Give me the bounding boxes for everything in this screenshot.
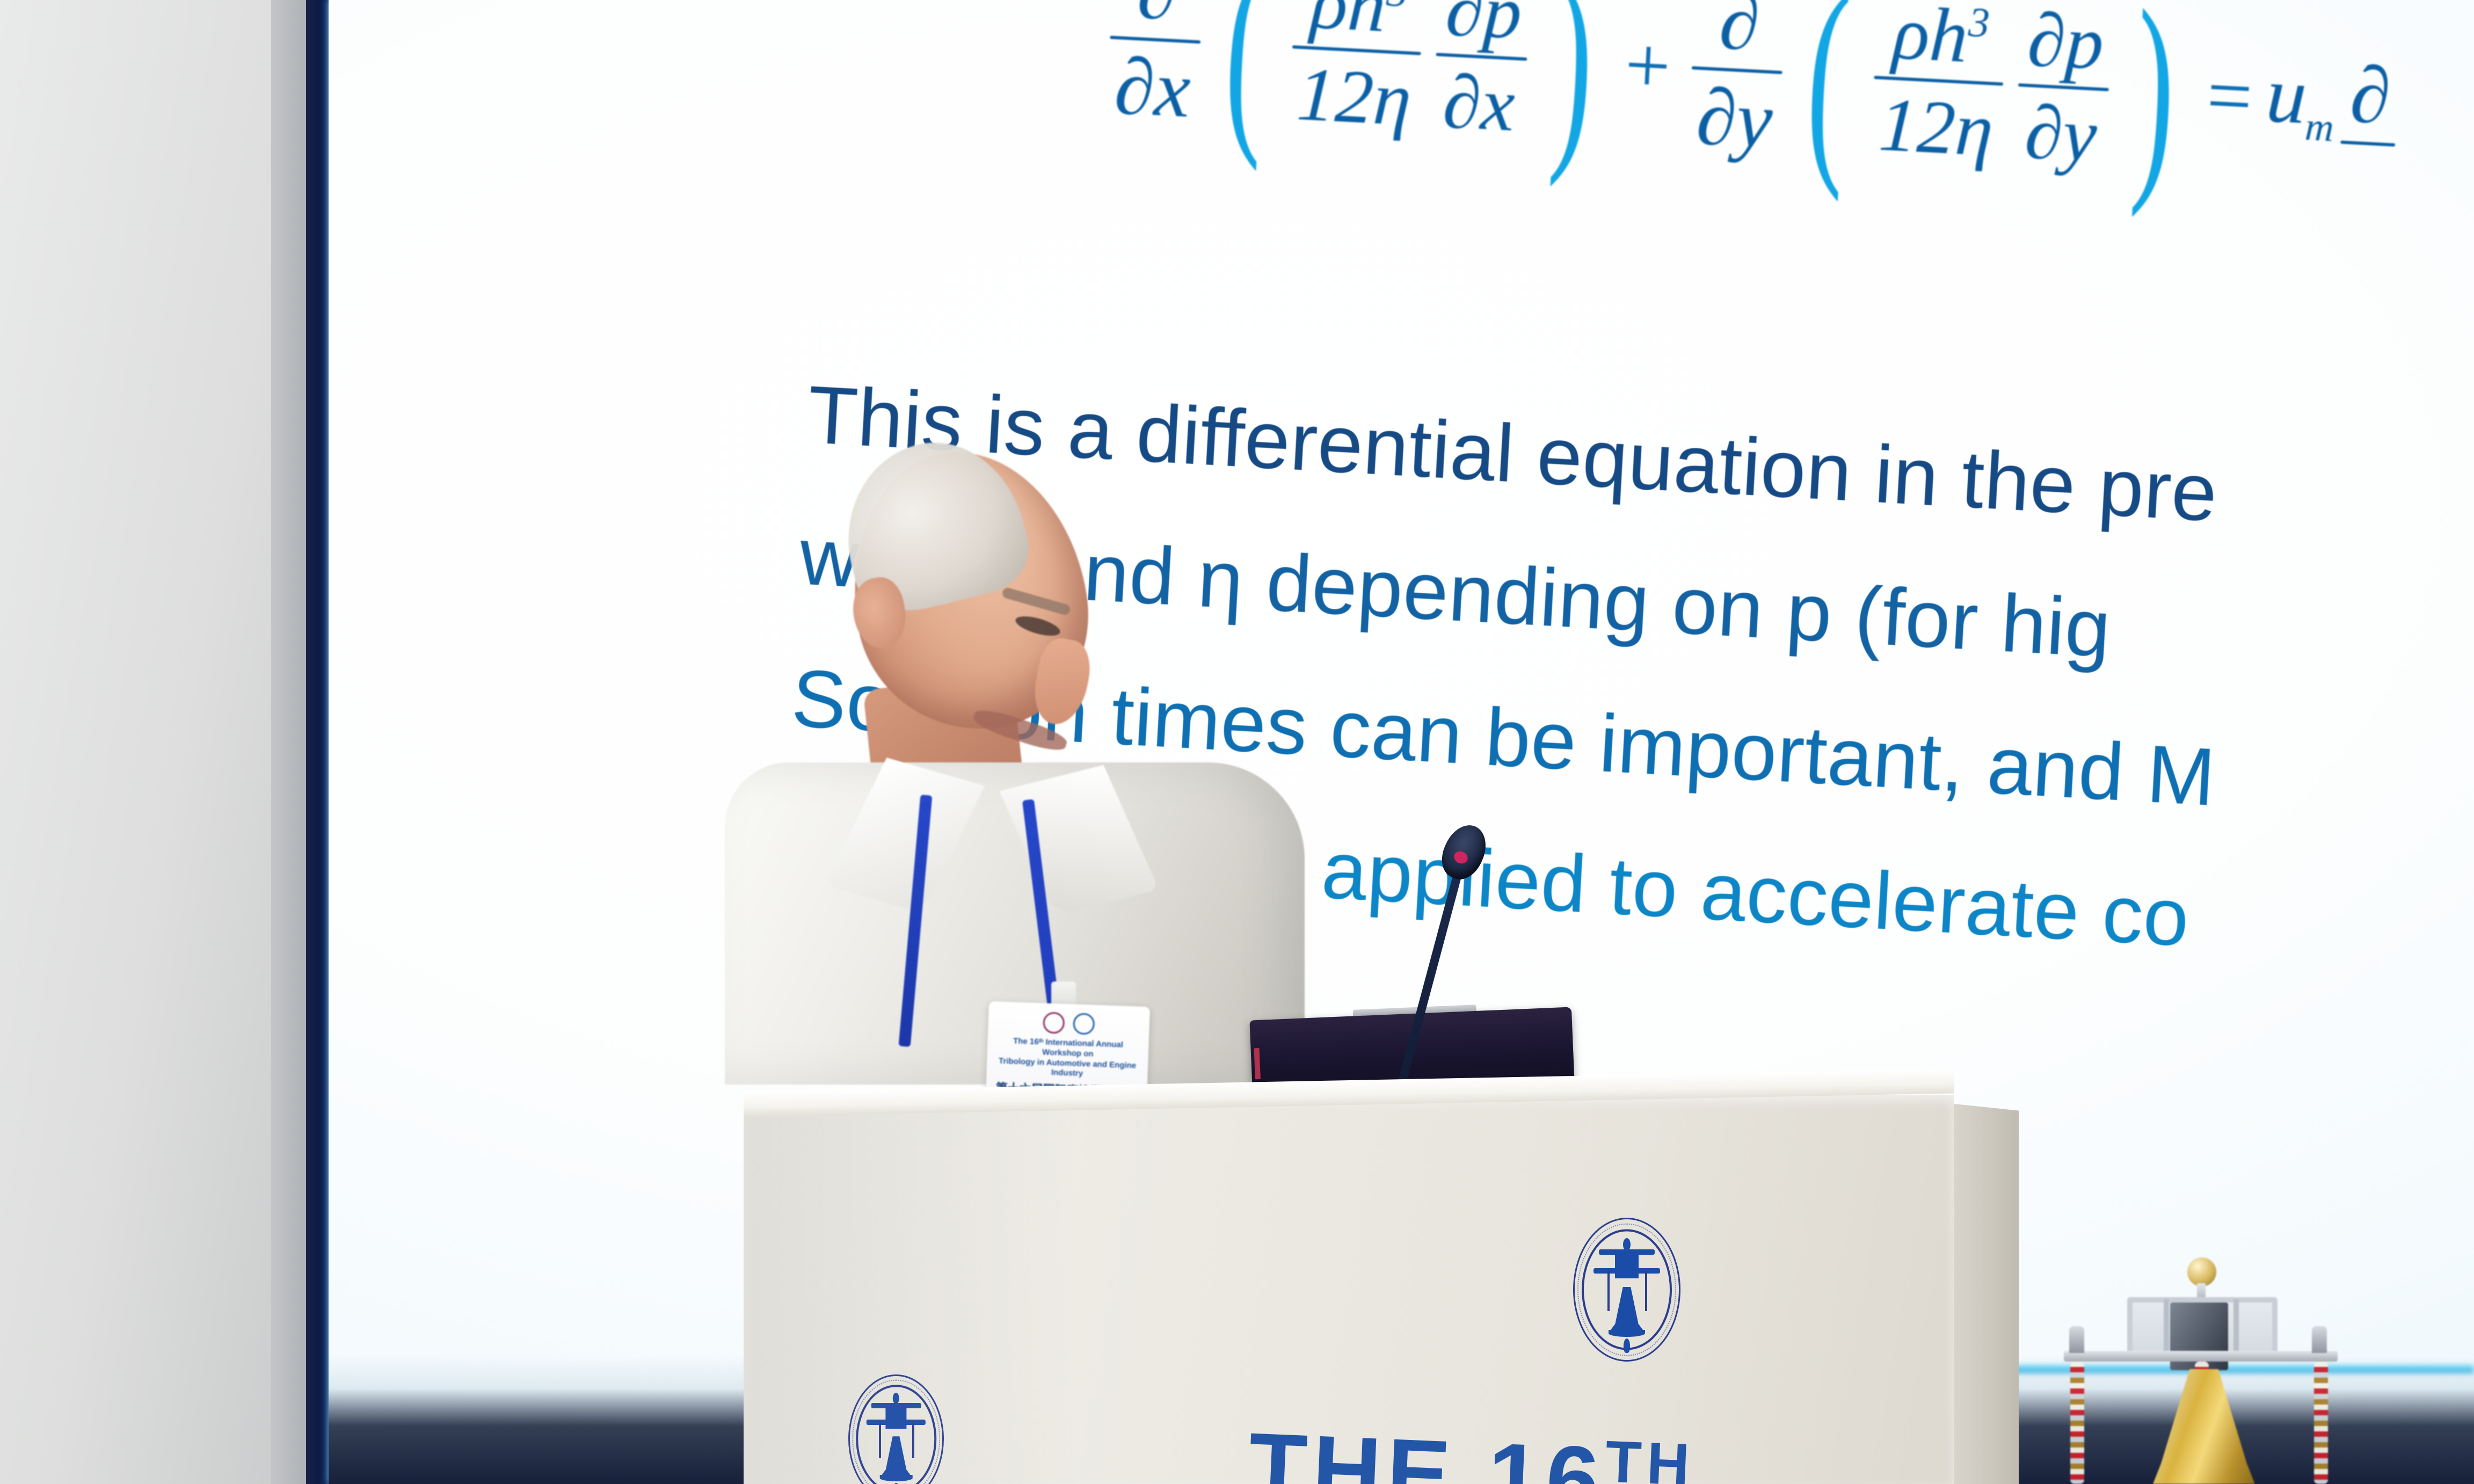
bell-cross-plate xyxy=(2064,1351,2338,1362)
paren-open-1: ( xyxy=(1222,0,1271,128)
rho-h3-over-12eta-1: ρh3 12η xyxy=(1288,0,1426,138)
partial-p-2: ∂p xyxy=(2019,1,2113,82)
wall-edge xyxy=(271,0,309,1484)
paren-close-1: ) xyxy=(1548,0,1597,146)
partial-symbol-2: ∂ xyxy=(1710,0,1769,63)
bell-cage-bar-left xyxy=(2164,1299,2169,1358)
partial-symbol-1: ∂ xyxy=(1128,0,1187,33)
bell-post-left xyxy=(2069,1326,2084,1353)
partial-d-dy-term2: ∂ ∂y xyxy=(1687,0,1787,161)
bell-cage-bar-right xyxy=(2233,1299,2239,1358)
bell-chain-left xyxy=(2070,1362,2084,1484)
dp-dy-term: ∂p ∂y xyxy=(2014,1,2113,173)
bell-post-right xyxy=(2312,1326,2327,1353)
u-mean-symbol: um xyxy=(2264,48,2338,151)
podium-bell-seal-logo-icon xyxy=(1573,1218,1680,1362)
twelve-eta-1: 12η xyxy=(1288,55,1421,137)
bell-chain-right xyxy=(2314,1362,2328,1484)
rhs-partial-frac: ∂ xyxy=(2340,54,2400,153)
equals-operator: = xyxy=(2204,49,2254,143)
partial-d-dx-term1: ∂ ∂x xyxy=(1105,0,1205,130)
speaker-person: The 16ᵗʰ International Annual Workshop o… xyxy=(693,451,1326,1074)
photo-scene: ∂ ∂x ( ρh3 12η ∂p ∂x ) + ∂ ∂y ( xyxy=(0,0,2474,1484)
bell-finial-ball xyxy=(2187,1257,2216,1286)
rho-h3-over-12eta-2: ρh3 12η xyxy=(1869,0,2007,168)
paren-close-2: ) xyxy=(2130,8,2179,176)
badge-logo-blue-icon xyxy=(1073,1013,1095,1035)
dp-dx-term: ∂p ∂x xyxy=(1432,0,1531,143)
partial-x-1: ∂x xyxy=(1434,63,1524,143)
badge-logo-row xyxy=(994,1010,1143,1037)
rho-h-cubed-2: ρh3 xyxy=(1884,0,1998,76)
podium-side-panel xyxy=(1954,1104,2019,1484)
screen-frame-bezel xyxy=(306,0,329,1484)
bell-body xyxy=(2153,1369,2255,1484)
side-wall xyxy=(0,0,306,1484)
plus-operator: + xyxy=(1622,18,1672,113)
laptop-brand-logo-icon xyxy=(1254,1048,1261,1079)
partial-y-2: ∂y xyxy=(2015,93,2106,173)
paren-open-2: ( xyxy=(1804,0,1853,159)
rho-h-cubed-1: ρh3 xyxy=(1302,0,1416,45)
twelve-eta-2: 12η xyxy=(1869,85,2003,168)
badge-logo-maroon-icon xyxy=(1043,1012,1065,1034)
ceremonial-bell-sculpture xyxy=(2056,1246,2346,1484)
reynolds-equation: ∂ ∂x ( ρh3 12η ∂p ∂x ) + ∂ ∂y ( xyxy=(1098,0,2410,194)
partial-dy-2: ∂y xyxy=(1687,76,1782,161)
partial-dx-1: ∂x xyxy=(1105,45,1200,130)
partial-p-1: ∂p xyxy=(1437,0,1531,51)
rhs-partial-symbol: ∂ xyxy=(2341,54,2400,137)
podium-secondary-bell-seal-logo-icon xyxy=(848,1374,944,1484)
